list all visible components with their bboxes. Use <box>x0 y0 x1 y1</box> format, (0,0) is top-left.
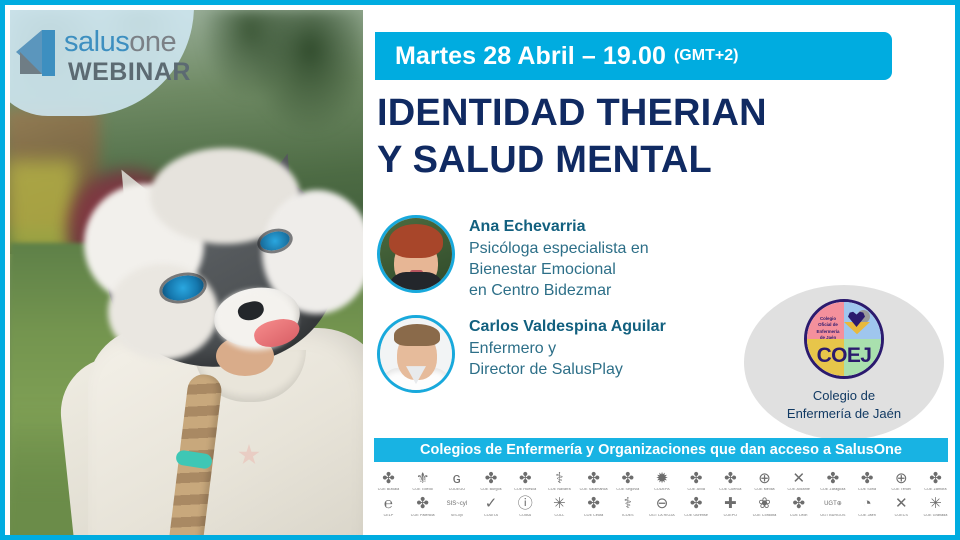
partner-logo-icon: ℮ <box>372 494 405 514</box>
partner-logo-label: SIS-cyl <box>440 514 473 518</box>
partner-logo-row-2: ℮CELP✤COE PalenciaSIS~cylSIS-cyl✓CODITAⓘ… <box>372 494 952 518</box>
partner-logo-cell: ⓘCOIBA <box>509 494 542 518</box>
timezone-text: (GMT+2) <box>674 47 738 65</box>
partner-logo-cell: ✤COE Zaragoza <box>816 468 849 492</box>
partner-logo-label: COE Burgos <box>475 488 508 492</box>
hero-photo-therian-mask: salusone WEBINAR <box>10 10 363 540</box>
mask-fur <box>108 264 218 360</box>
page-title: IDENTIDAD THERIAN Y SALUD MENTAL <box>377 90 937 184</box>
salusone-wordmark: salusone <box>64 26 176 59</box>
date-banner: Martes 28 Abril – 19.00 (GMT+2) <box>375 32 892 80</box>
speaker-role-line: Enfermero y <box>469 338 666 359</box>
partner-logo-cell: ✤COE Segovia <box>611 468 644 492</box>
partner-logo-cell: ⊕COE Melilla <box>748 468 781 492</box>
partner-logo-icon: ✳ <box>543 494 576 514</box>
partner-logo-cell: ✤COE Ourense <box>680 494 713 518</box>
partner-logo-cell: ✓CODITA <box>475 494 508 518</box>
partner-logo-icon: ✕ <box>782 468 815 488</box>
partner-logo-label: COE Zamora <box>919 488 952 492</box>
speaker-role-line: Director de SalusPlay <box>469 359 666 380</box>
partner-logo-label: CODEPA <box>646 488 679 492</box>
partner-logo-cell: ✤COE Ceuta <box>577 494 610 518</box>
partner-logo-label: UGT BURGOS <box>816 514 849 518</box>
partner-logo-label: COE Segovia <box>611 488 644 492</box>
partner-logo-icon: ✤ <box>714 468 747 488</box>
partner-logo-label: UGT LA RIOJA <box>646 514 679 518</box>
speaker-role-line: en Centro Bidezmar <box>469 280 649 301</box>
partner-logo-label: COE Bizkaia <box>372 488 405 492</box>
content-panel: Martes 28 Abril – 19.00 (GMT+2) IDENTIDA… <box>363 10 960 540</box>
speaker-text: Carlos Valdespina Aguilar Enfermero y Di… <box>469 315 666 380</box>
partner-logo-icon: ✤ <box>851 468 884 488</box>
partner-logo-icon: ✤ <box>577 468 610 488</box>
title-line-2: Y SALUD MENTAL <box>377 137 937 184</box>
partner-logo-icon: ✤ <box>680 494 713 514</box>
partner-logo-cell: ✳COE Granada <box>919 494 952 518</box>
webinar-poster: salusone WEBINAR Martes 28 Abril – 19.00… <box>0 0 960 540</box>
partner-logo-label: CODEGU <box>440 488 473 492</box>
partner-logo-cell: ✤COE Ávila <box>680 468 713 492</box>
partner-logo-icon: ❀ <box>748 494 781 514</box>
partner-logo-cell: ✚COEPO <box>714 494 747 518</box>
partner-logo-label: COE Huesca <box>509 488 542 492</box>
partner-logo-label: COIBA <box>509 514 542 518</box>
partner-logo-label: COE Ourense <box>680 514 713 518</box>
partner-logo-cell: ✕COECS <box>885 494 918 518</box>
wordmark-salus: salus <box>64 26 129 58</box>
partner-logo-icon: ⚜ <box>406 468 439 488</box>
partner-logo-icon: ⊕ <box>748 468 781 488</box>
partner-logo-cell: UGT⊕UGT BURGOS <box>816 494 849 518</box>
partner-logo-icon: ✤ <box>372 468 405 488</box>
photo-subject <box>66 160 363 540</box>
partner-logo-icon: ✤ <box>816 468 849 488</box>
partner-logo-label: COE León <box>782 514 815 518</box>
partner-logo-icon: ⚕ <box>611 494 644 514</box>
partner-logo-icon: ⓘ <box>509 494 542 514</box>
partner-logo-icon: ✳ <box>919 494 952 514</box>
partner-logo-icon: ✤ <box>782 494 815 514</box>
partner-logo-cell: ✤COE León <box>782 494 815 518</box>
partner-logo-cell: ◔COE Jaén <box>851 494 884 518</box>
partner-logo-label: COE Zaragoza <box>816 488 849 492</box>
partner-logo-icon: SIS~cyl <box>440 494 473 514</box>
partner-logo-icon: ✤ <box>680 468 713 488</box>
partner-logo-label: COE Córdoba <box>748 514 781 518</box>
partner-logo-icon: ✤ <box>475 468 508 488</box>
partner-logo-label: COE Jaén <box>851 514 884 518</box>
partner-logo-label: COE Soria <box>851 488 884 492</box>
partner-logo-label: ICOES <box>611 514 644 518</box>
partner-logo-icon: ✓ <box>475 494 508 514</box>
partner-logo-cell: ɢCODEGU <box>440 468 473 492</box>
partner-logo-cell: ✤COE Salamanca <box>577 468 610 492</box>
partner-logo-icon: ✚ <box>714 494 747 514</box>
partner-logo-cell: ✹CODEPA <box>646 468 679 492</box>
speaker-role-line: Psicóloga especialista en <box>469 238 649 259</box>
partner-logo-icon: ✤ <box>919 468 952 488</box>
partner-logo-cell: ✕COE Alicante <box>782 468 815 492</box>
salusone-logo-icon <box>16 30 60 76</box>
partner-logo-icon: ✕ <box>885 494 918 514</box>
partner-logo-label: COE Navarra <box>543 488 576 492</box>
partner-logo-label: CODITA <box>475 514 508 518</box>
partner-logo-cell: ✤COE Palencia <box>406 494 439 518</box>
partner-logo-cell: ℮CELP <box>372 494 405 518</box>
partner-logo-cell: ⚕ICOES <box>611 494 644 518</box>
partner-logo-icon: ⊖ <box>646 494 679 514</box>
partner-logo-label: COE Ceuta <box>577 514 610 518</box>
partners-banner: Colegios de Enfermería y Organizaciones … <box>374 438 948 462</box>
coej-mini-text: Colegio Oficial de Enfermería de Jaén <box>814 316 842 342</box>
partner-logo-label: COE Teruel <box>885 488 918 492</box>
partner-logo-icon: ⊕ <box>885 468 918 488</box>
speakers-list: Ana Echevarria Psicóloga especialista en… <box>377 215 737 407</box>
partners-banner-text: Colegios de Enfermería y Organizaciones … <box>420 442 902 458</box>
title-line-1: IDENTIDAD THERIAN <box>377 90 937 137</box>
partner-logo-label: CELP <box>372 514 405 518</box>
partner-logo-icon: ◔ <box>851 494 884 514</box>
partner-logo-icon: ✤ <box>406 494 439 514</box>
coej-logo-icon: Colegio Oficial de Enfermería de Jaén CO… <box>804 299 884 379</box>
partner-logo-label: COE Granada <box>919 514 952 518</box>
partner-logo-label: COE Melilla <box>748 488 781 492</box>
coej-acronym: COEJ <box>807 344 881 368</box>
partner-logo-label: COE Salamanca <box>577 488 610 492</box>
partner-logo-label: COE Ávila <box>680 488 713 492</box>
partner-logo-label: COE Alicante <box>782 488 815 492</box>
partner-logo-label: COE Cuenca <box>714 488 747 492</box>
partner-logo-icon: ✤ <box>611 468 644 488</box>
speaker-ana-echevarria: Ana Echevarria Psicóloga especialista en… <box>377 215 737 301</box>
coej-caption: Colegio de Enfermería de Jaén <box>787 387 901 422</box>
partner-logo-icon: UGT⊕ <box>816 494 849 514</box>
partner-logo-cell: ✤COE Bizkaia <box>372 468 405 492</box>
speaker-text: Ana Echevarria Psicóloga especialista en… <box>469 215 649 301</box>
partner-logo-icon: ✤ <box>509 468 542 488</box>
partner-logo-label: COE Toledo <box>406 488 439 492</box>
speaker-name: Carlos Valdespina Aguilar <box>469 317 666 338</box>
date-text: Martes 28 Abril – 19.00 <box>395 42 666 71</box>
partner-logo-cell: SIS~cylSIS-cyl <box>440 494 473 518</box>
badge-inner: salusone WEBINAR <box>16 26 186 96</box>
partner-logo-icon: ✤ <box>577 494 610 514</box>
partner-logo-cell: ✤COE Zamora <box>919 468 952 492</box>
wordmark-one: one <box>129 26 176 58</box>
partner-logo-icon: ɢ <box>440 468 473 488</box>
partner-logo-cell: ❀COE Córdoba <box>748 494 781 518</box>
avatar <box>377 315 455 393</box>
partner-logo-row-1: ✤COE Bizkaia⚜COE ToledoɢCODEGU✤COE Burgo… <box>372 468 952 492</box>
partner-logo-cell: ⚜COE Toledo <box>406 468 439 492</box>
speaker-carlos-valdespina: Carlos Valdespina Aguilar Enfermero y Di… <box>377 315 737 393</box>
partner-logo-cell: ✤COE Cuenca <box>714 468 747 492</box>
avatar <box>377 215 455 293</box>
webinar-label: WEBINAR <box>68 58 191 87</box>
coej-caption-line-1: Colegio de <box>787 387 901 405</box>
partner-logo-label: COECS <box>885 514 918 518</box>
partner-logo-grid: ✤COE Bizkaia⚜COE ToledoɢCODEGU✤COE Burgo… <box>372 468 952 520</box>
partner-logo-cell: ✳COLL <box>543 494 576 518</box>
partner-logo-label: COLL <box>543 514 576 518</box>
partner-logo-cell: ⊖UGT LA RIOJA <box>646 494 679 518</box>
partner-logo-cell: ✤COE Burgos <box>475 468 508 492</box>
partner-logo-cell: ⚕COE Navarra <box>543 468 576 492</box>
speaker-role-line: Bienestar Emocional <box>469 259 649 280</box>
partner-logo-label: COE Palencia <box>406 514 439 518</box>
coej-caption-line-2: Enfermería de Jaén <box>787 405 901 423</box>
speaker-name: Ana Echevarria <box>469 217 649 238</box>
partner-logo-cell: ⊕COE Teruel <box>885 468 918 492</box>
partner-logo-icon: ⚕ <box>543 468 576 488</box>
partner-logo-cell: ✤COE Soria <box>851 468 884 492</box>
partner-logo-label: COEPO <box>714 514 747 518</box>
partner-logo-icon: ✹ <box>646 468 679 488</box>
partner-logo-cell: ✤COE Huesca <box>509 468 542 492</box>
coej-organizer-block: Colegio Oficial de Enfermería de Jaén CO… <box>744 285 944 440</box>
